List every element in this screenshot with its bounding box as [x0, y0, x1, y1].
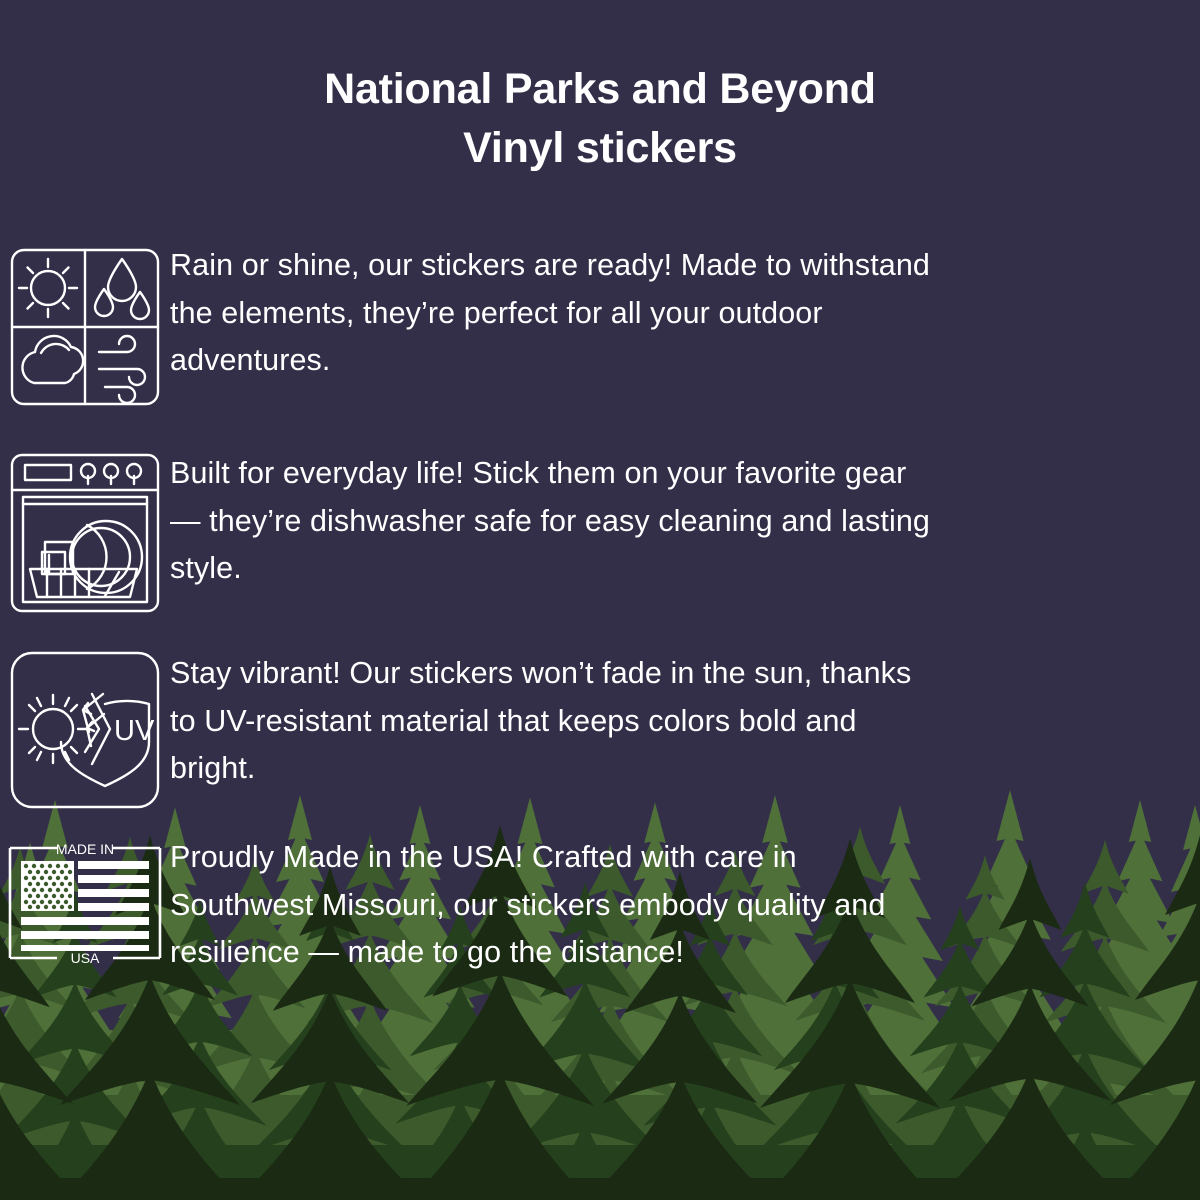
- feature-row-made-in-usa: MADE IN USA: [0, 828, 1200, 1008]
- knob-icon: [81, 464, 141, 484]
- wind-icon: [99, 336, 145, 403]
- feature-icon-slot: [0, 430, 170, 614]
- title-line-2: Vinyl stickers: [0, 119, 1200, 178]
- weather-grid-icon: [9, 247, 161, 407]
- uv-label: UV: [114, 715, 155, 747]
- flag-canton-icon: [21, 861, 74, 911]
- feature-text-dishwasher: Built for everyday life! Stick them on y…: [170, 430, 940, 593]
- feature-icon-slot: MADE IN USA: [0, 828, 170, 963]
- page-title: National Parks and Beyond Vinyl stickers: [0, 60, 1200, 179]
- raindrop-icon: [95, 259, 149, 319]
- sun-icon: [19, 259, 77, 317]
- cloud-icon: [22, 336, 83, 383]
- feature-text-weather: Rain or shine, our stickers are ready! M…: [170, 225, 940, 385]
- made-in-label: MADE IN: [56, 843, 114, 857]
- feature-row-weather: Rain or shine, our stickers are ready! M…: [0, 225, 1200, 430]
- feature-list: Rain or shine, our stickers are ready! M…: [0, 225, 1200, 1008]
- plate-icon: [70, 521, 142, 593]
- rack-icon: [30, 569, 137, 597]
- usa-label: USA: [71, 950, 100, 963]
- title-line-1: National Parks and Beyond: [324, 65, 876, 113]
- feature-text-made-in-usa: Proudly Made in the USA! Crafted with ca…: [170, 828, 940, 977]
- feature-row-dishwasher: Built for everyday life! Stick them on y…: [0, 430, 1200, 635]
- dishwasher-icon: [9, 452, 161, 614]
- feature-icon-slot: UV: [0, 635, 170, 810]
- sun-icon: [19, 695, 87, 763]
- display-icon: [25, 465, 71, 480]
- poster-canvas: National Parks and Beyond Vinyl stickers: [0, 0, 1200, 1200]
- poster-content: National Parks and Beyond Vinyl stickers: [0, 0, 1200, 1200]
- made-in-usa-flag-icon: MADE IN USA: [5, 843, 165, 963]
- feature-text-uv: Stay vibrant! Our stickers won’t fade in…: [170, 635, 940, 793]
- feature-icon-slot: [0, 225, 170, 407]
- feature-row-uv: UV Stay vibrant! Our stickers won’t fade…: [0, 635, 1200, 828]
- uv-resistant-icon: UV: [9, 650, 161, 810]
